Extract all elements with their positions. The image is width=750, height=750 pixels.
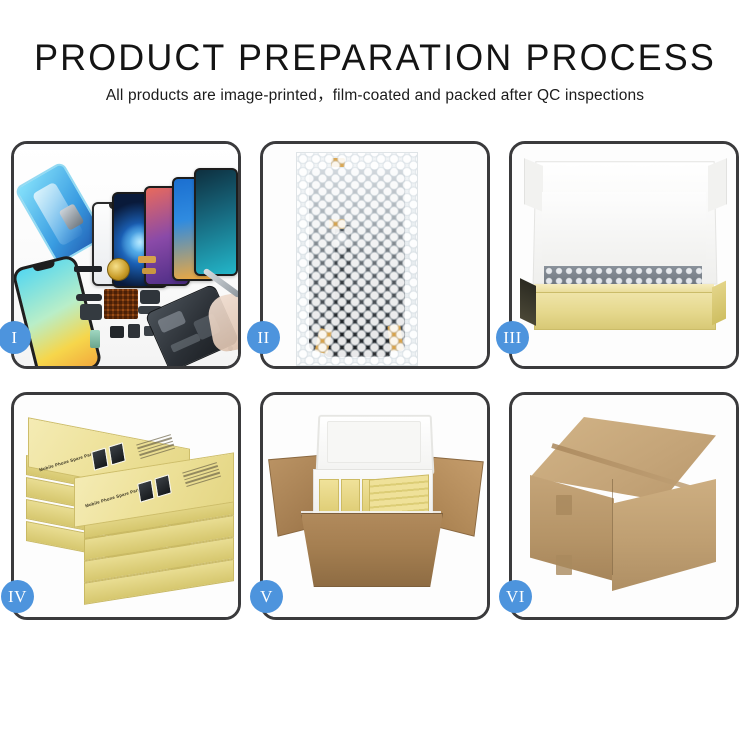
phone-notch [33,261,56,272]
carton-left-face [530,475,614,581]
step-panel-3[interactable]: III [509,141,739,369]
step-image-2 [263,144,487,366]
step-image-6 [512,395,736,617]
housing-detail [170,333,201,353]
step-image-4: Mobile Phone Spare Parts Mobile Phone Sp… [14,395,238,617]
part-flex-cable-2 [80,304,102,320]
carton-right-face [612,479,716,591]
step-panel-5[interactable]: V [260,392,490,620]
step-badge-6: VI [499,580,532,613]
speaker-component [107,258,130,281]
step-panel-4[interactable]: Mobile Phone Spare Parts Mobile Phone Sp… [11,392,241,620]
lid-flap-right [708,158,727,212]
foam-liner [542,192,706,264]
bubble-texture [297,153,417,365]
step-panel-6[interactable]: VI [509,392,739,620]
page-title: PRODUCT PREPARATION PROCESS [11,36,739,80]
part-battery-cell [90,330,100,348]
part-gold-flex-1 [138,256,156,263]
bubble-wrap-bag [296,152,418,366]
lid-flap-left [524,158,543,212]
part-flex-cable-3 [140,290,160,304]
step-image-1 [14,144,238,366]
foam-lid-inner [327,421,421,463]
step-image-5 [263,395,487,617]
box-side-right [712,281,726,326]
part-gold-flex-2 [142,268,156,274]
step-panel-2[interactable]: II [260,141,490,369]
part-flex-cable-1 [76,294,102,301]
box-side-left [520,278,536,326]
housing-detail [157,310,186,333]
step-badge-2: II [247,321,280,354]
step-badge-4: IV [1,580,34,613]
carton-tape-upper [556,495,572,515]
step-image-3 [512,144,736,366]
chip-grid-component [104,289,138,319]
product-preparation-infographic: PRODUCT PREPARATION PROCESS All products… [0,0,750,750]
carton-vertical-edge [612,479,613,575]
part-small-chip-1 [110,326,124,338]
page-subtitle: All products are image-printed，film-coat… [0,86,750,106]
step-panel-1[interactable]: I [11,141,241,369]
carton-tape-lower [556,555,572,575]
process-row-2: Mobile Phone Spare Parts Mobile Phone Sp… [11,392,739,620]
part-black-bar [74,266,102,272]
carton-body [301,513,443,587]
part-small-chip-2 [128,324,140,338]
process-steps-grid: I II [11,141,739,620]
process-row-1: I II [11,141,739,369]
step-badge-5: V [250,580,283,613]
step-badge-3: III [496,321,529,354]
header: PRODUCT PREPARATION PROCESS All products… [0,36,750,106]
box-stack: Mobile Phone Spare Parts Mobile Phone Sp… [22,409,230,607]
phone-teal-screen [194,168,238,276]
box-front-panel [534,292,716,330]
